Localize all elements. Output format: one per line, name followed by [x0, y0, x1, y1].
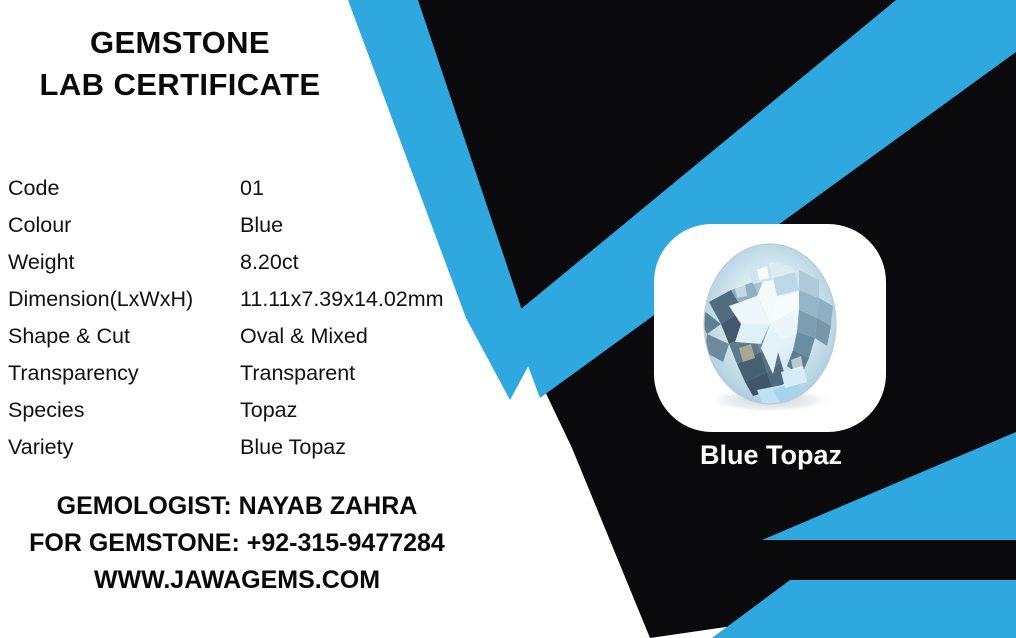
spec-label-variety: Variety	[8, 435, 240, 460]
table-row: Shape & Cut Oval & Mixed	[8, 324, 488, 361]
contact-block: GEMOLOGIST: NAYAB ZAHRA FOR GEMSTONE: +9…	[0, 488, 474, 599]
certificate-left-panel: GEMSTONE LAB CERTIFICATE Code 01 Colour …	[0, 0, 500, 638]
spec-label-weight: Weight	[8, 250, 240, 275]
spec-label-transparency: Transparency	[8, 361, 240, 386]
spec-value-transparency: Transparent	[240, 361, 355, 386]
spec-value-code: 01	[240, 176, 264, 201]
spec-label-colour: Colour	[8, 213, 240, 238]
title-line-2: LAB CERTIFICATE	[0, 64, 360, 106]
gemstone-certificate: GEMSTONE LAB CERTIFICATE Code 01 Colour …	[0, 0, 1016, 638]
table-row: Transparency Transparent	[8, 361, 488, 398]
website-line: WWW.JAWAGEMS.COM	[0, 562, 474, 599]
spec-value-shape-and-cut: Oval & Mixed	[240, 324, 368, 349]
title-line-1: GEMSTONE	[0, 22, 360, 64]
table-row: Species Topaz	[8, 398, 488, 435]
blue-topaz-gem-image	[695, 240, 845, 416]
spec-value-species: Topaz	[240, 398, 297, 423]
spec-value-variety: Blue Topaz	[240, 435, 346, 460]
table-row: Weight 8.20ct	[8, 250, 488, 287]
page-title: GEMSTONE LAB CERTIFICATE	[0, 22, 360, 105]
gem-image-wrap	[654, 224, 886, 432]
table-row: Colour Blue	[8, 213, 488, 250]
spec-label-dimension: Dimension(LxWxH)	[8, 287, 240, 312]
gem-photo-card	[654, 224, 886, 432]
table-row: Variety Blue Topaz	[8, 435, 488, 472]
phone-line: FOR GEMSTONE: +92-315-9477284	[0, 525, 474, 562]
spec-value-dimension: 11.11x7.39x14.02mm	[240, 287, 444, 312]
gem-caption: Blue Topaz	[640, 440, 902, 471]
gem-spec-table: Code 01 Colour Blue Weight 8.20ct Dimens…	[8, 176, 488, 472]
spec-label-code: Code	[8, 176, 240, 201]
spec-label-shape-and-cut: Shape & Cut	[8, 324, 240, 349]
table-row: Dimension(LxWxH) 11.11x7.39x14.02mm	[8, 287, 488, 324]
gemologist-line: GEMOLOGIST: NAYAB ZAHRA	[0, 488, 474, 525]
table-row: Code 01	[8, 176, 488, 213]
spec-value-weight: 8.20ct	[240, 250, 299, 275]
spec-value-colour: Blue	[240, 213, 283, 238]
spec-label-species: Species	[8, 398, 240, 423]
